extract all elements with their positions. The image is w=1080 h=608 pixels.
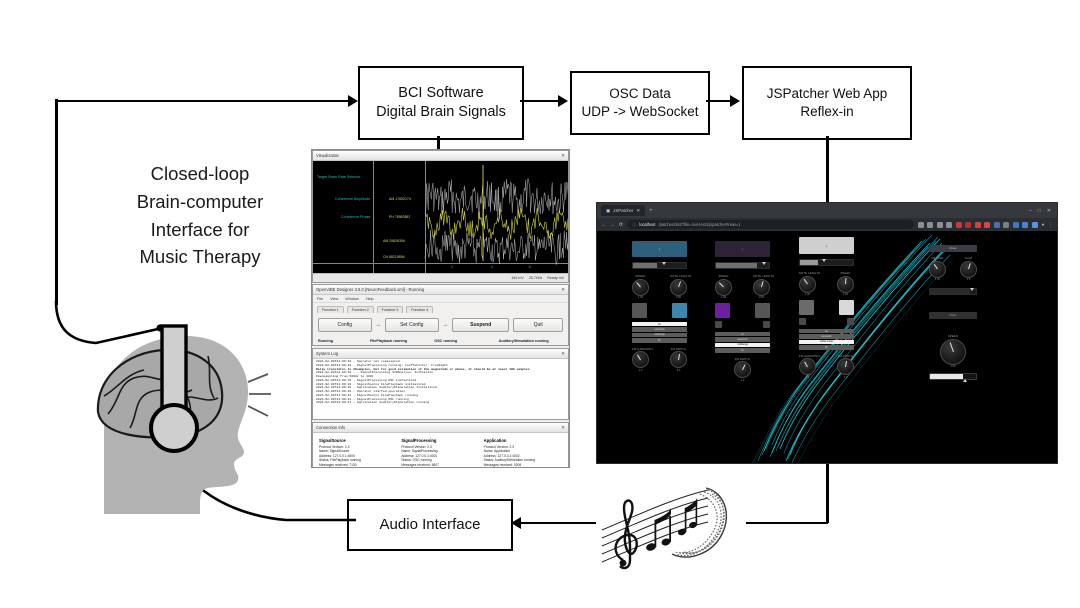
arrowhead-osc-to-jspatcher	[730, 95, 740, 107]
knob-value: 2.0	[670, 369, 687, 372]
box-jspatcher-line1: JSPatcher Web App	[767, 85, 888, 103]
maximize-button[interactable]: □	[1038, 208, 1041, 214]
browser-tab[interactable]: ▣ JSPatcher ✕	[601, 205, 645, 216]
suspend-button[interactable]: Suspend	[452, 318, 509, 332]
column-heading: SignalSource	[319, 438, 397, 443]
close-icon[interactable]: ✕	[561, 153, 565, 159]
connector-osc-to-jspatcher	[706, 100, 730, 103]
extension-icon[interactable]	[994, 222, 1000, 228]
signal-scope: Target Brain Rate Selector Coherence Amp…	[313, 161, 568, 273]
box-osc-data: OSC Data UDP -> WebSocket	[570, 71, 710, 135]
voice-panel-3: 3 Note Length 1.00 Speed 1.00	[799, 237, 854, 379]
set-config-button[interactable]: Set Config	[385, 318, 439, 332]
extension-icon[interactable]	[1013, 222, 1019, 228]
arrowhead-to-audio-interface	[511, 517, 521, 529]
tab-function-4[interactable]: Function 4	[406, 306, 433, 313]
log-titlebar: System Log ✕	[313, 349, 568, 359]
column-heading: SignalProcessing	[401, 438, 479, 443]
knob-value: 0.5	[960, 278, 977, 281]
scope-status-2: Ready mV	[547, 276, 564, 280]
menu-option[interactable]: sawtooth	[715, 337, 770, 341]
panel-1-knob-speed[interactable]: Speed 1.00	[632, 275, 649, 299]
head-brain-illustration	[68, 318, 304, 514]
box-jspatcher-line2: Reflex-in	[800, 103, 853, 121]
menu-item-help[interactable]: Help	[366, 297, 374, 301]
box-osc-line1: OSC Data	[609, 85, 671, 103]
signal-window-title: Visualization	[316, 153, 339, 158]
panel-2-display[interactable]: 2	[715, 241, 770, 257]
knob-label: Note Length	[670, 275, 687, 278]
profile-avatar[interactable]: ●	[1041, 222, 1044, 228]
menu-option[interactable]: midrange	[632, 333, 687, 337]
menu-option[interactable]: on	[632, 322, 687, 326]
music-notes-saxophone-illustration	[596, 468, 746, 580]
panel-3-display[interactable]: 3	[799, 237, 854, 254]
panel-3-small-swatch-b[interactable]	[847, 318, 854, 325]
column-row: Messages sent: 136	[401, 467, 479, 468]
forward-icon[interactable]: →	[610, 222, 615, 228]
connector-loop-bottom	[55, 100, 355, 103]
master-big-knob-speed[interactable]: Speed 1.00	[940, 335, 966, 368]
voice-panel-2: 2 Speed 1.00 Note Length 0.50	[715, 241, 770, 382]
connection-column-signalprocessing: SignalProcessing Protocol Version: 2.3 N…	[401, 438, 479, 468]
panel-1-knob-note-length[interactable]: Note Length 0.50	[670, 275, 687, 299]
tab-function-1[interactable]: Function 1	[317, 306, 344, 313]
panel-3-menu[interactable]: on sawtooth white noise fm	[799, 329, 854, 350]
menu-item-file[interactable]: File	[317, 297, 323, 301]
panel-3-swatch-a[interactable]	[799, 300, 814, 315]
column-row: Messages sent: 177	[319, 467, 397, 468]
master-panel: Reset Master 1.00 Gain 0.5	[929, 245, 977, 380]
menu-option[interactable]: on	[715, 332, 770, 336]
panel-1-menu[interactable]: on sawtooth midrange fm	[632, 322, 687, 343]
menu-option[interactable]: on	[799, 329, 854, 333]
extension-icon[interactable]	[984, 222, 990, 228]
caption-line-2: Brain-computer	[95, 188, 305, 216]
designer-menubar: File View Window Help	[313, 295, 568, 303]
panel-1-display-label: 1	[659, 247, 661, 251]
arrow-right-icon: →	[443, 322, 449, 328]
arrowhead-bci-to-osc	[558, 95, 568, 107]
log-window-title: System Log	[316, 351, 338, 356]
master-reset-button[interactable]: Reset	[929, 245, 977, 252]
extension-icons: ● ⋮	[918, 222, 1053, 228]
panel-2-slider[interactable]	[715, 262, 770, 269]
address-bar[interactable]: ⓘ localhost /patcher/dist/?file=/xxl-tes…	[627, 220, 914, 229]
menu-option[interactable]: white noise	[799, 340, 854, 344]
voice-panel-1: 1 Speed 1.00 Note Length 0.50	[632, 241, 687, 372]
scope-status-1: 25.70Hz	[529, 276, 542, 280]
knob-value: 1.00	[715, 296, 732, 299]
connection-column-application: Application Protocol Version: 2.3 Name: …	[484, 438, 562, 468]
menu-option[interactable]: sawtooth	[799, 334, 854, 338]
knob-value: 1.00	[632, 296, 649, 299]
knob-label: Note Length	[753, 275, 770, 278]
menu-option[interactable]: fm	[715, 348, 770, 352]
diagram-canvas: BCI Software Digital Brain Signals OSC D…	[0, 0, 1080, 608]
back-icon[interactable]: ←	[601, 222, 606, 228]
reload-icon[interactable]: ⟳	[619, 222, 623, 228]
signal-visualization-window: Visualization ✕ Target Brain Rate Select…	[312, 150, 569, 283]
designer-status-row: Running FilePlayback running OSC running…	[313, 337, 568, 345]
caption-line-3: Interface for	[95, 216, 305, 244]
close-icon[interactable]: ✕	[561, 351, 565, 357]
connection-titlebar: Connection Info ✕	[313, 423, 568, 433]
browser-toolbar: ← → ⟳ ⓘ localhost /patcher/dist/?file=/x…	[597, 218, 1057, 231]
knob-value: 1.0	[632, 369, 649, 372]
caption-line-1: Closed-loop	[95, 160, 305, 188]
panel-3-swatch-b[interactable]	[839, 300, 854, 315]
url-path: /patcher/dist/?file=/xxl-test1/jspatcher…	[658, 222, 740, 227]
designer-tabs: Function 1 Function 2 Function 3 Functio…	[313, 303, 568, 313]
panel-3-knob-fm-harmonic[interactable]: FM Harmonic 1.0	[799, 355, 816, 379]
extension-icon[interactable]	[1003, 222, 1009, 228]
status-running: Running	[318, 339, 370, 343]
favicon-icon: ▣	[606, 208, 610, 214]
window-controls: – □ ✕	[1029, 208, 1053, 214]
knob-label: Gain	[960, 257, 977, 260]
column-row: Messages sent: 136	[484, 467, 562, 468]
knob-label: Note Length	[799, 272, 816, 275]
panel-1-swatch-b[interactable]	[672, 303, 687, 318]
panel-3-small-swatch-a[interactable]	[799, 318, 806, 325]
designer-window-title: OpenViBE Designer 3.6.0 [NeuroFeedback.x…	[316, 287, 424, 292]
menu-option[interactable]: sawtooth	[632, 327, 687, 331]
panel-2-knob-speed[interactable]: Speed 1.00	[715, 275, 732, 299]
extension-icon[interactable]	[937, 222, 943, 228]
bci-software-screenshot: Visualization ✕ Target Brain Rate Select…	[311, 149, 570, 468]
log-body[interactable]: 2024-02-08T14:09:18 - Operator not reass…	[313, 359, 568, 419]
menu-option[interactable]: fm	[632, 338, 687, 342]
close-icon[interactable]: ✕	[561, 425, 565, 431]
knob-label: Speed	[940, 335, 966, 338]
extension-icon[interactable]	[927, 222, 933, 228]
log-line: 2024-02-08T14:09:21 - Application Audito…	[316, 401, 565, 405]
box-osc-line2: UDP -> WebSocket	[582, 103, 699, 121]
url-host: localhost	[639, 222, 655, 227]
panel-2-knob-note-length[interactable]: Note Length 0.50	[753, 275, 770, 299]
menu-item-view[interactable]: View	[330, 297, 338, 301]
master-slider[interactable]	[929, 288, 977, 295]
box-bci-line1: BCI Software	[398, 84, 483, 103]
menu-item-window[interactable]: Window	[345, 297, 359, 301]
extension-icon[interactable]	[946, 222, 952, 228]
panel-2-display-label: 2	[742, 247, 744, 251]
box-jspatcher: JSPatcher Web App Reflex-in	[742, 66, 912, 140]
menu-kebab-icon[interactable]: ⋮	[1048, 222, 1053, 228]
panel-2-menu[interactable]: on sawtooth midrange fm	[715, 332, 770, 353]
jspatcher-canvas[interactable]: 1 Speed 1.00 Note Length 0.50	[597, 231, 1057, 463]
extension-icon[interactable]	[956, 222, 962, 228]
quit-button[interactable]: Quit	[513, 318, 563, 332]
knob-value: 1.00	[837, 293, 854, 296]
connection-column-signalsource: SignalSource Protocol Version: 2.3 Name:…	[319, 438, 397, 468]
signal-window-titlebar: Visualization ✕	[313, 151, 568, 161]
column-heading: Application	[484, 438, 562, 443]
panel-3-knob-speed[interactable]: Speed 1.00	[837, 272, 854, 296]
panel-3-knob-fm-depth[interactable]: FM Depth 2.0	[837, 355, 854, 379]
connector-bci-to-osc	[520, 100, 558, 103]
arrow-right-icon: →	[376, 322, 382, 328]
system-log-window: System Log ✕ 2024-02-08T14:09:18 - Opera…	[312, 348, 569, 420]
box-audio-label: Audio Interface	[380, 515, 481, 535]
extension-icon[interactable]	[1022, 222, 1028, 228]
panel-2-small-swatch-a[interactable]	[715, 321, 722, 328]
designer-titlebar: OpenViBE Designer 3.6.0 [NeuroFeedback.x…	[313, 285, 568, 295]
panel-2-knob-fm-depth[interactable]: FM Depth 1.0	[734, 358, 751, 382]
browser-tab-title: JSPatcher	[613, 208, 633, 213]
connector-jspatcher-to-screenshot	[826, 136, 829, 203]
caption-line-4: Music Therapy	[95, 243, 305, 271]
box-bci-line2: Digital Brain Signals	[376, 103, 506, 122]
new-tab-button[interactable]: +	[649, 208, 653, 214]
connector-bci-to-screenshot	[437, 136, 440, 150]
connection-window-title: Connection Info	[316, 425, 345, 430]
panel-1-swatch-a[interactable]	[632, 303, 647, 318]
config-button[interactable]: Config	[318, 318, 372, 332]
panel-1-slider[interactable]	[632, 262, 687, 269]
knob-value: 0.50	[753, 296, 770, 299]
close-icon[interactable]: ✕	[636, 208, 640, 214]
browser-tabstrip: ▣ JSPatcher ✕ + – □ ✕	[597, 203, 1057, 218]
openvibe-designer-window: OpenViBE Designer 3.6.0 [NeuroFeedback.x…	[312, 284, 569, 346]
status-auditory: AuditoryStimulation running	[499, 339, 563, 343]
page-title: Closed-loop Brain-computer Interface for…	[95, 160, 305, 271]
panel-1-display[interactable]: 1	[632, 241, 687, 257]
knob-label: Speed	[715, 275, 732, 278]
arrowhead-loop-to-bci	[348, 95, 358, 107]
minimize-button[interactable]: –	[1029, 208, 1032, 214]
extension-icon[interactable]	[918, 222, 924, 228]
knob-value: 0.50	[670, 296, 687, 299]
knob-value: 2.0	[837, 376, 854, 379]
status-fileplayback: FilePlayback running	[370, 339, 434, 343]
knob-label: Speed	[837, 272, 854, 275]
knob-label: Speed	[632, 275, 649, 278]
menu-option[interactable]: midrange	[715, 343, 770, 347]
connection-info-window: Connection Info ✕ SignalSource Protocol …	[312, 422, 569, 468]
knob-value: 1.00	[929, 278, 946, 281]
panel-1-knob-fm-harmonic[interactable]: FM Harmonic 1.0	[632, 348, 649, 372]
panel-2-small-swatch-b[interactable]	[763, 321, 770, 328]
scope-waveforms	[313, 161, 568, 273]
panel-2-swatch-b[interactable]	[755, 303, 770, 318]
info-icon[interactable]: ⓘ	[632, 222, 636, 228]
close-icon[interactable]: ✕	[561, 287, 565, 293]
knob-value: 1.00	[940, 365, 966, 368]
extension-icon[interactable]	[1032, 222, 1038, 228]
panel-2-swatch-a[interactable]	[715, 303, 730, 318]
panel-3-display-label: 3	[826, 244, 828, 248]
scope-status-0: 440 mV	[511, 276, 523, 280]
panel-1-knob-fm-depth[interactable]: FM Depth 2.0	[670, 348, 687, 372]
extension-icon[interactable]	[965, 222, 971, 228]
signal-status-bar: 440 mV 25.70Hz Ready mV	[313, 273, 568, 282]
box-audio-interface: Audio Interface	[347, 499, 513, 551]
designer-control-row: Config → Set Config → Suspend Quit	[313, 313, 568, 337]
panel-3-knob-note-length[interactable]: Note Length 1.00	[799, 272, 816, 296]
knob-value: 1.0	[799, 376, 816, 379]
knob-value: 1.00	[799, 293, 816, 296]
knob-value: 1.0	[734, 379, 751, 382]
knob-label: Master	[929, 257, 946, 260]
connector-jspatcher-to-music	[826, 462, 829, 523]
box-bci-software: BCI Software Digital Brain Signals	[358, 66, 524, 140]
status-osc: OSC running	[434, 339, 498, 343]
connector-loop-left	[55, 99, 58, 305]
extension-icon[interactable]	[975, 222, 981, 228]
connection-columns: SignalSource Protocol Version: 2.3 Name:…	[313, 433, 568, 468]
master-panic-button[interactable]: Panic	[929, 312, 977, 319]
tab-function-3[interactable]: Function 3	[377, 306, 404, 313]
master-knob-gain[interactable]: Gain 0.5	[960, 257, 977, 281]
tab-function-2[interactable]: Function 2	[347, 306, 374, 313]
panel-3-slider[interactable]	[799, 259, 854, 266]
master-output-slider[interactable]	[929, 373, 977, 380]
master-knob-master[interactable]: Master 1.00	[929, 257, 946, 281]
jspatcher-browser-screenshot: ▣ JSPatcher ✕ + – □ ✕ ← → ⟳ ⓘ localhost …	[596, 202, 1058, 464]
menu-option[interactable]: fm	[799, 345, 854, 349]
close-window-button[interactable]: ✕	[1047, 208, 1051, 214]
